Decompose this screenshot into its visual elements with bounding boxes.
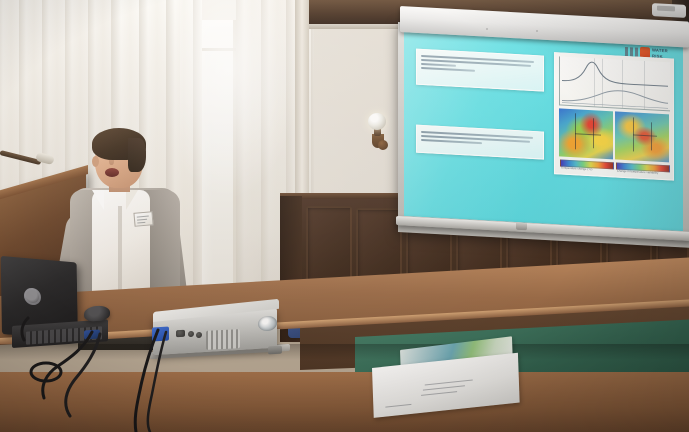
presenter-ear xyxy=(92,156,99,167)
screen-brand-logo xyxy=(657,6,675,12)
screen-pull-tab[interactable] xyxy=(516,223,527,231)
cables xyxy=(0,240,400,432)
screen-glare xyxy=(404,28,683,231)
presentation-room-photo: WATER RISK xyxy=(0,0,689,432)
presenter-mouth xyxy=(105,168,119,177)
window-daylight-glow xyxy=(180,0,300,200)
projector-screen-surface: WATER RISK xyxy=(404,28,683,231)
collar-left xyxy=(92,190,104,210)
presenter-hair-side xyxy=(128,138,146,172)
name-badge xyxy=(133,211,153,227)
presentation-slide: WATER RISK xyxy=(404,28,683,231)
wall-sconce-lamp-icon xyxy=(368,113,386,130)
sconce-backplate xyxy=(378,140,388,150)
collar-right xyxy=(126,190,138,210)
